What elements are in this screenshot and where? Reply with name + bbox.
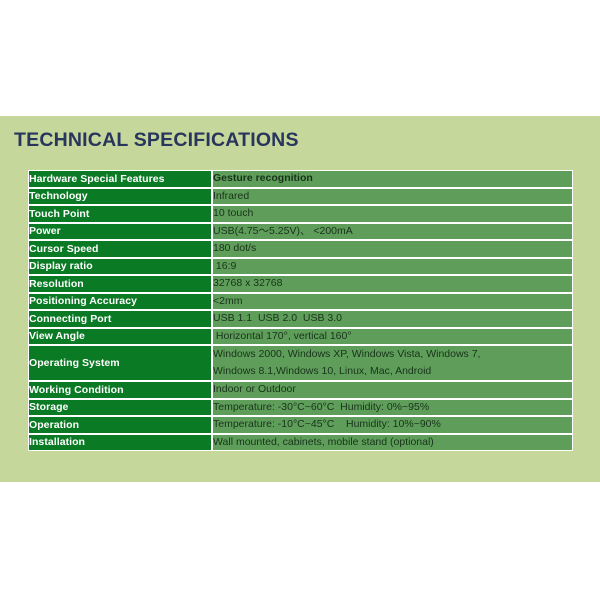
- table-row: View Angle Horizontal 170°, vertical 160…: [28, 328, 573, 346]
- table-row: StorageTemperature: -30°C~60°C Humidity:…: [28, 399, 573, 417]
- spec-label-cell: View Angle: [28, 328, 212, 346]
- spec-value-cell: <2mm: [212, 293, 573, 311]
- spec-value-cell: USB(4.75〜5.25V)、 <200mA: [212, 223, 573, 241]
- spec-value-cell: 32768 x 32768: [212, 275, 573, 293]
- page-title: TECHNICAL SPECIFICATIONS: [14, 129, 299, 152]
- spec-value-cell: Temperature: -10°C~45°C Humidity: 10%~90…: [212, 416, 573, 434]
- spec-value-cell: Temperature: -30°C~60°C Humidity: 0%~95%: [212, 399, 573, 417]
- spec-value-cell: Gesture recognition: [212, 170, 573, 188]
- spec-value-cell: 16:9: [212, 258, 573, 276]
- table-row: OperationTemperature: -10°C~45°C Humidit…: [28, 416, 573, 434]
- spec-value-cell: Horizontal 170°, vertical 160°: [212, 328, 573, 346]
- spec-value-cell: Windows 2000, Windows XP, Windows Vista,…: [212, 345, 573, 381]
- table-row: Connecting PortUSB 1.1 USB 2.0 USB 3.0: [28, 310, 573, 328]
- spec-label-cell: Working Condition: [28, 381, 212, 399]
- table-row: Resolution32768 x 32768: [28, 275, 573, 293]
- spec-label-cell: Display ratio: [28, 258, 212, 276]
- spec-label-cell: Operating System: [28, 345, 212, 381]
- specification-table-body: Hardware Special FeaturesGesture recogni…: [28, 170, 573, 451]
- spec-label-cell: Technology: [28, 188, 212, 206]
- specification-table-container: Hardware Special FeaturesGesture recogni…: [28, 170, 573, 451]
- table-row: Touch Point10 touch: [28, 205, 573, 223]
- table-row: PowerUSB(4.75〜5.25V)、 <200mA: [28, 223, 573, 241]
- spec-value-cell: USB 1.1 USB 2.0 USB 3.0: [212, 310, 573, 328]
- spec-label-cell: Power: [28, 223, 212, 241]
- spec-label-cell: Resolution: [28, 275, 212, 293]
- spec-label-cell: Cursor Speed: [28, 240, 212, 258]
- spec-label-cell: Hardware Special Features: [28, 170, 212, 188]
- spec-label-cell: Connecting Port: [28, 310, 212, 328]
- spec-label-cell: Storage: [28, 399, 212, 417]
- table-row: Cursor Speed180 dot/s: [28, 240, 573, 258]
- spec-label-cell: Touch Point: [28, 205, 212, 223]
- specification-table: Hardware Special FeaturesGesture recogni…: [28, 170, 573, 451]
- table-row: TechnologyInfrared: [28, 188, 573, 206]
- spec-value-cell: 180 dot/s: [212, 240, 573, 258]
- spec-value-cell: 10 touch: [212, 205, 573, 223]
- specification-page: TECHNICAL SPECIFICATIONS Hardware Specia…: [0, 0, 600, 600]
- table-row: Display ratio 16:9: [28, 258, 573, 276]
- spec-label-cell: Installation: [28, 434, 212, 452]
- table-row: Working ConditionIndoor or Outdoor: [28, 381, 573, 399]
- table-row: Positioning Accuracy<2mm: [28, 293, 573, 311]
- spec-label-cell: Positioning Accuracy: [28, 293, 212, 311]
- spec-value-cell: Indoor or Outdoor: [212, 381, 573, 399]
- spec-value-cell: Infrared: [212, 188, 573, 206]
- table-row: Operating SystemWindows 2000, Windows XP…: [28, 345, 573, 381]
- spec-value-cell: Wall mounted, cabinets, mobile stand (op…: [212, 434, 573, 452]
- table-row: Hardware Special FeaturesGesture recogni…: [28, 170, 573, 188]
- table-row: InstallationWall mounted, cabinets, mobi…: [28, 434, 573, 452]
- spec-label-cell: Operation: [28, 416, 212, 434]
